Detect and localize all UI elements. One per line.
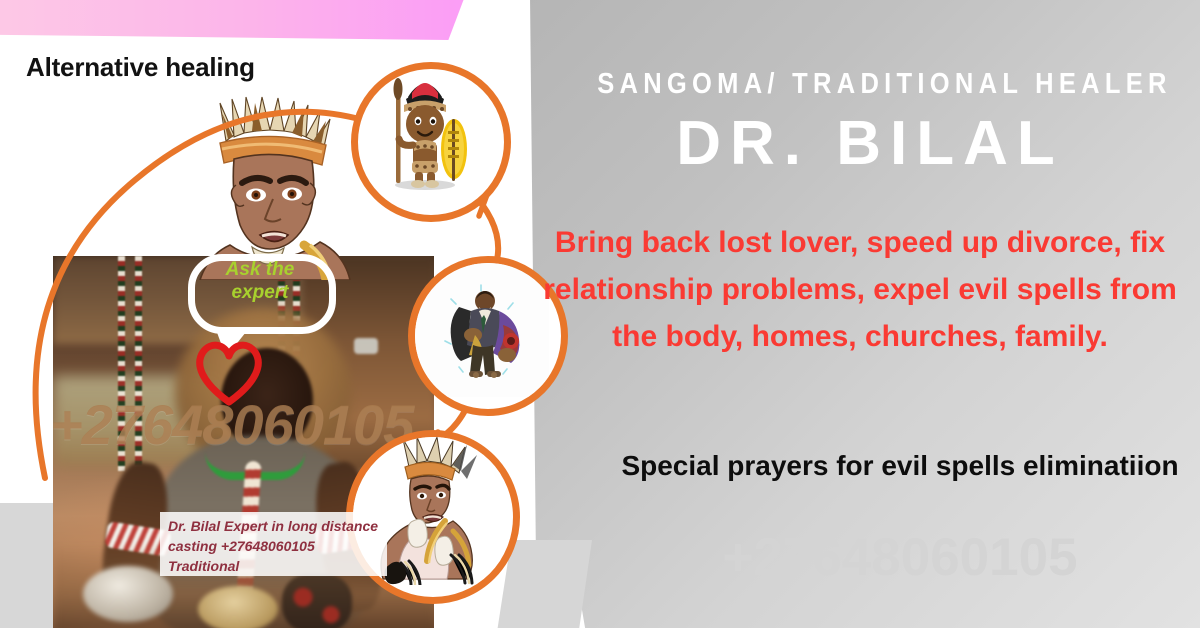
healer-name: DR. BILAL bbox=[560, 108, 1180, 179]
prayers-text: Special prayers for evil spells eliminat… bbox=[610, 443, 1190, 489]
caption-line-2: casting +27648060105 Traditional bbox=[168, 536, 381, 576]
kicker-text: SANGOMA/ TRADITIONAL HEALER bbox=[597, 68, 1143, 101]
poster-canvas: Alternative healing +27648060105 bbox=[0, 0, 1200, 628]
caption-line-1: Dr. Bilal Expert in long distance bbox=[168, 516, 381, 536]
photo-caption: Dr. Bilal Expert in long distance castin… bbox=[160, 512, 387, 576]
heart-outline-icon bbox=[193, 340, 265, 406]
speech-bubble-text: Ask the expert bbox=[200, 258, 320, 304]
services-text: Bring back lost lover, speed up divorce,… bbox=[540, 219, 1180, 360]
phone-number-watermark: +27648060105 bbox=[610, 527, 1190, 588]
circle-image-zulu-warrior bbox=[351, 62, 511, 222]
